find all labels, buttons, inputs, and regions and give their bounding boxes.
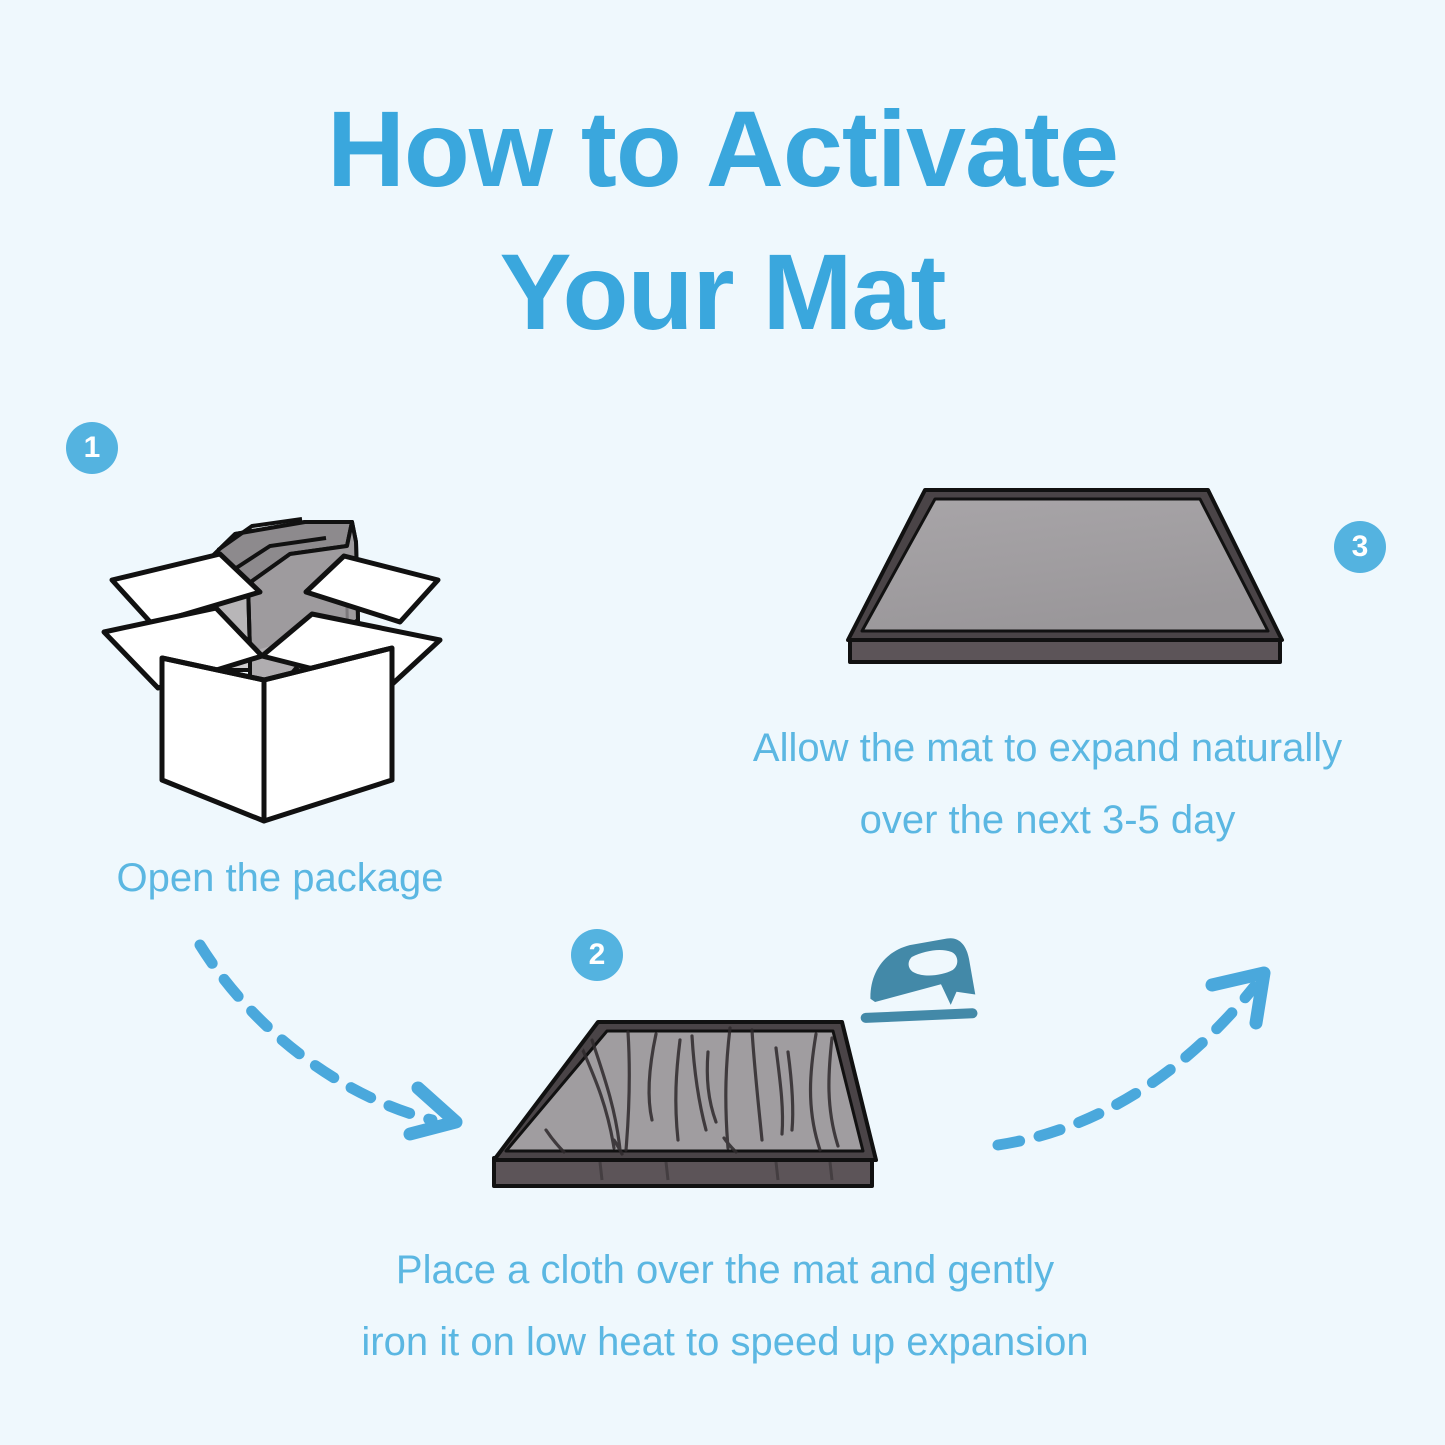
infographic-canvas: How to Activate Your Mat 1 — [0, 0, 1445, 1445]
step-3-caption-line-1: Allow the mat to expand naturally — [650, 712, 1445, 784]
step-2-caption-line-2: iron it on low heat to speed up expansio… — [220, 1306, 1230, 1378]
page-title-line-1: How to Activate — [0, 78, 1445, 221]
step-2-caption: Place a cloth over the mat and gently ir… — [220, 1234, 1230, 1378]
page-title: How to Activate Your Mat — [0, 78, 1445, 363]
step-badge-3: 3 — [1334, 521, 1386, 573]
step-3-caption-line-2: over the next 3-5 day — [650, 784, 1445, 856]
page-title-line-2: Your Mat — [0, 221, 1445, 364]
step-2-caption-line-1: Place a cloth over the mat and gently — [220, 1234, 1230, 1306]
arrow-step1-to-step2 — [160, 920, 490, 1145]
step-badge-1: 1 — [66, 422, 118, 474]
step-1-caption: Open the package — [0, 842, 560, 914]
step-3-caption: Allow the mat to expand naturally over t… — [650, 712, 1445, 856]
floor-mat-icon-expanded — [820, 460, 1320, 690]
step-1-caption-line-1: Open the package — [0, 842, 560, 914]
arrow-step2-to-step3 — [980, 955, 1290, 1165]
step-badge-2: 2 — [571, 929, 623, 981]
clothes-iron-icon — [850, 925, 1000, 1035]
cardboard-box-icon — [100, 480, 450, 825]
